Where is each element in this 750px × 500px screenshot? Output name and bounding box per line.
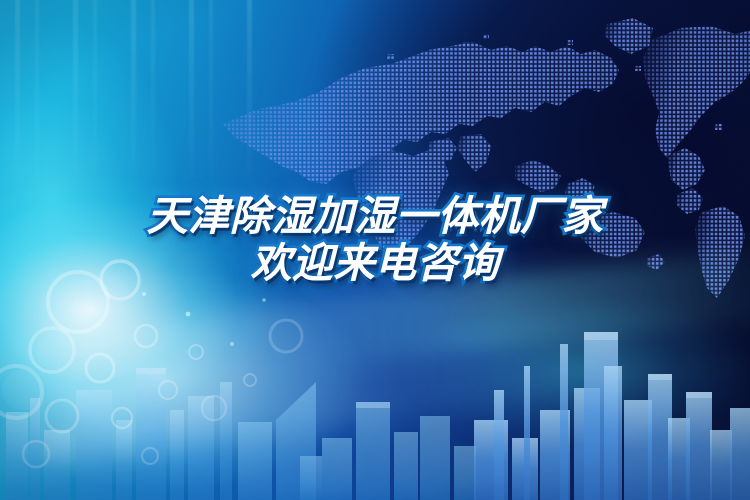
vignette-overlay	[0, 0, 750, 500]
promo-banner: 天津除湿加湿一体机厂家 天津除湿加湿一体机厂家 欢迎来电咨询 欢迎来电咨询	[0, 0, 750, 500]
